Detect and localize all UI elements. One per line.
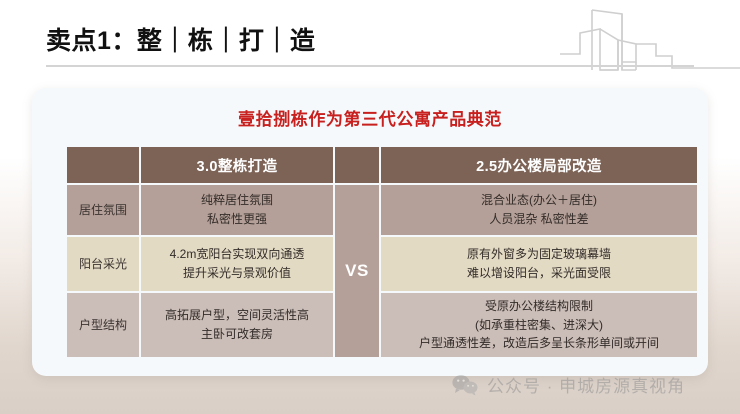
row-left-3: 高拓展户型，空间灵活性高 主卧可改套房 [141,293,333,357]
row-right-1: 混合业态(办公＋居住) 人员混杂 私密性差 [381,185,697,235]
row-right-2-line-1: 原有外窗多为固定玻璃幕墙 [381,245,697,264]
row-right-2-line-2: 难以增设阳台，采光面受限 [381,264,697,283]
row-left-2: 4.2m宽阳台实现双向通透 提升采光与景观价值 [141,237,333,291]
table-header-right: 2.5办公楼局部改造 [381,147,697,183]
slide-header: 卖点1：整｜栋｜打｜造 [46,28,694,67]
table-header-row: 3.0整栋打造 2.5办公楼局部改造 [67,147,697,183]
table-header-left: 3.0整栋打造 [141,147,333,183]
table-header-vs-spacer [335,147,379,183]
row-right-3-line-2: (如承重柱密集、进深大) [381,316,697,335]
table-header-blank [67,147,139,183]
row-label-1: 居住氛围 [67,185,139,235]
header-divider [46,65,694,67]
row-left-2-line-1: 4.2m宽阳台实现双向通透 [141,245,333,264]
table-row: 居住氛围 纯粹居住氛围 私密性更强 VS 混合业态(办公＋居住) 人员混杂 私密… [67,185,697,235]
row-right-1-line-1: 混合业态(办公＋居住) [381,191,697,210]
comparison-table: 3.0整栋打造 2.5办公楼局部改造 居住氛围 纯粹居住氛围 私密性更强 VS … [65,145,699,359]
table-row: 户型结构 高拓展户型，空间灵活性高 主卧可改套房 受原办公楼结构限制 (如承重柱… [67,293,697,357]
table-row: 阳台采光 4.2m宽阳台实现双向通透 提升采光与景观价值 原有外窗多为固定玻璃幕… [67,237,697,291]
row-label-3: 户型结构 [67,293,139,357]
row-label-2: 阳台采光 [67,237,139,291]
comparison-card: 壹拾捌栋作为第三代公寓产品典范 3.0整栋打造 2.5办公楼局部改造 居住氛围 [32,88,708,376]
row-right-3: 受原办公楼结构限制 (如承重柱密集、进深大) 户型通透性差，改造后多呈长条形单间… [381,293,697,357]
row-left-1-line-1: 纯粹居住氛围 [141,191,333,210]
page-title: 卖点1：整｜栋｜打｜造 [46,28,694,56]
wechat-icon [452,374,478,396]
row-right-2: 原有外窗多为固定玻璃幕墙 难以增设阳台，采光面受限 [381,237,697,291]
row-left-2-line-2: 提升采光与景观价值 [141,264,333,283]
vs-cell: VS [335,185,379,357]
slide-canvas: 卖点1：整｜栋｜打｜造 壹拾捌栋作为第三代公寓产品典范 3.0整栋打造 2.5办… [0,0,740,414]
row-left-1: 纯粹居住氛围 私密性更强 [141,185,333,235]
row-right-3-line-1: 受原办公楼结构限制 [381,297,697,316]
card-title: 壹拾捌栋作为第三代公寓产品典范 [32,105,708,130]
row-right-3-line-3: 户型通透性差，改造后多呈长条形单间或开间 [381,334,697,353]
row-left-3-line-2: 主卧可改套房 [141,325,333,344]
row-right-1-line-2: 人员混杂 私密性差 [381,210,697,229]
row-left-1-line-2: 私密性更强 [141,210,333,229]
row-left-3-line-1: 高拓展户型，空间灵活性高 [141,306,333,325]
